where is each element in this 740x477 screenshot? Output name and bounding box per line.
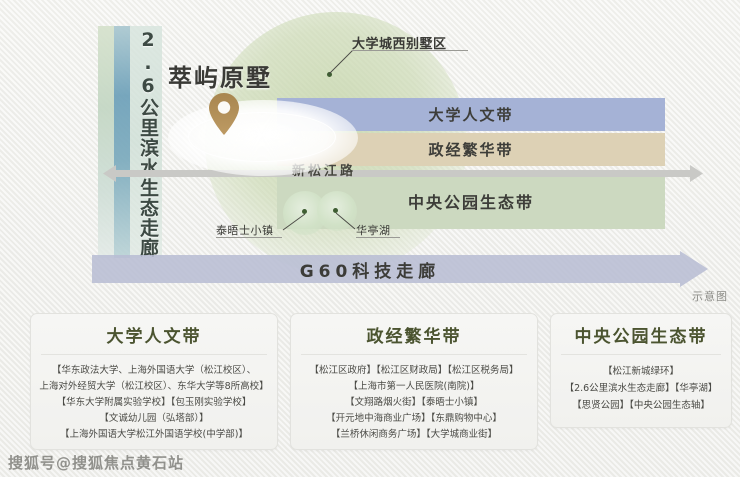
card-line: 【文翔路烟火街】【泰晤士小镇】: [297, 395, 531, 411]
card-line: 【思贤公园】【中央公园生态轴】: [557, 397, 725, 414]
vertical-band-green: [98, 26, 114, 258]
leader-line-villa-district: [327, 48, 357, 76]
card-line: 【松江新城绿环】: [557, 363, 725, 380]
vertical-band-teal: [114, 26, 130, 258]
belt-label: 大学人文带: [428, 104, 513, 125]
card-body: 【华东政法大学、上海外国语大学（松江校区）、 上海对外经贸大学（松江校区）、东华…: [31, 355, 277, 449]
card-line: 【华东大学附属实验学校】【包玉刚实验学校】: [37, 395, 271, 411]
card-line: 【2.6公里滨水生态走廊】【华亭湖】: [557, 380, 725, 397]
belt-detail-cards: 大学人文带 【华东政法大学、上海外国语大学（松江校区）、 上海对外经贸大学（松江…: [0, 313, 740, 453]
card-political-economic[interactable]: 政经繁华带 【松江区政府】【松江区财政局】【松江区税务局】 【上海市第一人民医院…: [290, 313, 538, 450]
card-university-humanities[interactable]: 大学人文带 【华东政法大学、上海外国语大学（松江校区）、 上海对外经贸大学（松江…: [30, 313, 278, 450]
poi-underline-villa-district: [352, 50, 468, 51]
card-body: 【松江新城绿环】 【2.6公里滨水生态走廊】【华亭湖】 【思贤公园】【中央公园生…: [551, 355, 731, 420]
card-line: 【上海市第一人民医院(南院)】: [297, 379, 531, 395]
card-line: 上海对外经贸大学（松江校区）、东华大学等8所高校】: [37, 379, 271, 395]
card-line: 【松江区政府】【松江区财政局】【松江区税务局】: [297, 363, 531, 379]
poi-underline-thames-town: [216, 237, 282, 238]
road-double-arrow-icon: [103, 163, 703, 184]
card-body: 【松江区政府】【松江区财政局】【松江区税务局】 【上海市第一人民医院(南院)】 …: [291, 355, 537, 449]
leader-line-huating-lake: [335, 211, 357, 231]
card-title: 政经繁华带: [291, 314, 537, 354]
waterfront-corridor-label: 2.6公里滨水生态走廊: [130, 26, 162, 258]
leader-line-thames-town: [281, 212, 307, 232]
project-title: 萃屿原墅: [168, 58, 272, 93]
card-line: 【上海外国语大学松江外国语学校(中学部)】: [37, 427, 271, 443]
card-title: 大学人文带: [31, 314, 277, 354]
poi-label-thames-town: 泰晤士小镇: [216, 222, 274, 238]
card-line: 【华东政法大学、上海外国语大学（松江校区）、: [37, 363, 271, 379]
card-line: 【兰桥休闲商务广场】【大学城商业街】: [297, 427, 531, 443]
page-canvas: 2.6公里滨水生态走廊 大学人文带 政经繁华带 中央公园生态带 新松江路 萃屿原…: [0, 0, 740, 477]
poi-underline-huating-lake: [356, 237, 400, 238]
g60-corridor-label: G60科技走廊: [0, 251, 740, 287]
card-line: 【文诚幼儿园（弘塔部）】: [37, 411, 271, 427]
schematic-note: 示意图: [692, 288, 728, 304]
card-line: 【开元地中海商业广场】【东鼎购物中心】: [297, 411, 531, 427]
watermark: 搜狐号@搜狐焦点黄石站: [8, 452, 184, 473]
location-diagram: 2.6公里滨水生态走廊 大学人文带 政经繁华带 中央公园生态带 新松江路 萃屿原…: [0, 0, 740, 308]
belt-label: 中央公园生态带: [408, 189, 534, 213]
card-title: 中央公园生态带: [551, 314, 731, 354]
card-central-park-eco[interactable]: 中央公园生态带 【松江新城绿环】 【2.6公里滨水生态走廊】【华亭湖】 【思贤公…: [550, 313, 732, 428]
map-pin-icon: [208, 92, 240, 136]
belt-label: 政经繁华带: [428, 139, 513, 160]
poi-label-huating-lake: 华亭湖: [356, 222, 391, 238]
